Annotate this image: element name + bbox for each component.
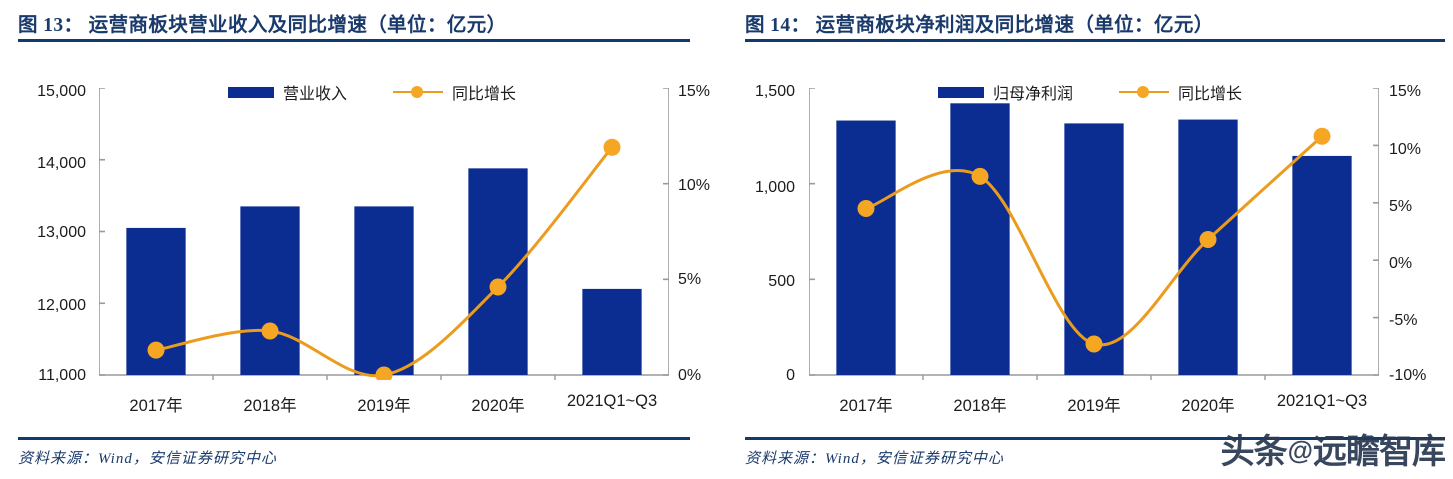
chart-plot-area-13 xyxy=(99,88,669,380)
watermark-logo: 头条@远瞻智库 xyxy=(1221,424,1445,473)
right-axis-tick: 5% xyxy=(678,272,701,288)
right-axis-tick: 5% xyxy=(1389,199,1412,215)
title-divider xyxy=(18,39,690,42)
left-axis-tick: 1,000 xyxy=(727,180,795,196)
figure-panel-14: 图 14： 运营商板块净利润及同比增速（单位：亿元） 归母净利润 同比增长 1,… xyxy=(727,0,1453,479)
figure-title-13: 图 13： 运营商板块营业收入及同比增速（单位：亿元） xyxy=(18,8,507,37)
x-axis-label: 2018年 xyxy=(213,392,327,416)
watermark-brand: 头条 xyxy=(1221,433,1287,471)
footer-divider xyxy=(18,437,690,440)
right-axis-tick: 10% xyxy=(678,178,710,194)
x-axis-label: 2017年 xyxy=(809,392,923,416)
title-divider xyxy=(745,39,1445,42)
left-axis-tick: 14,000 xyxy=(8,156,86,172)
x-axis-label: 2020年 xyxy=(1151,392,1265,416)
left-axis-tick: 500 xyxy=(727,274,795,290)
chart-svg-14 xyxy=(809,88,1379,380)
x-axis-labels-14: 2017年 2018年 2019年 2020年 2021Q1~Q3 xyxy=(809,392,1379,416)
figure-source-13: 资料来源：Wind，安信证券研究中心 xyxy=(18,447,277,468)
x-axis-label: 2017年 xyxy=(99,392,213,416)
right-axis-tick: 10% xyxy=(1389,142,1421,158)
right-axis-tick: -10% xyxy=(1389,368,1426,384)
left-axis-tick: 11,000 xyxy=(8,368,86,384)
watermark-account: 远瞻智库 xyxy=(1313,433,1445,471)
x-axis-label: 2020年 xyxy=(441,392,555,416)
x-axis-label: 2021Q1~Q3 xyxy=(1265,392,1379,416)
figure-title-14: 图 14： 运营商板块净利润及同比增速（单位：亿元） xyxy=(745,8,1214,37)
left-axis-tick: 0 xyxy=(727,368,795,384)
chart-plot-area-14 xyxy=(809,88,1379,380)
figure-page: 图 13： 运营商板块营业收入及同比增速（单位：亿元） 营业收入 同比增长 15… xyxy=(0,0,1453,479)
left-axis-tick: 15,000 xyxy=(8,84,86,100)
figure-source-14: 资料来源：Wind，安信证券研究中心 xyxy=(745,447,1004,468)
watermark-at-icon: @ xyxy=(1287,435,1313,466)
left-axis-tick: 12,000 xyxy=(8,298,86,314)
right-axis-tick: -5% xyxy=(1389,313,1417,329)
right-axis-tick: 15% xyxy=(1389,84,1421,100)
x-axis-label: 2021Q1~Q3 xyxy=(555,392,669,416)
right-axis-tick: 15% xyxy=(678,84,710,100)
left-axis-tick: 13,000 xyxy=(8,225,86,241)
left-axis-tick: 1,500 xyxy=(727,84,795,100)
x-axis-label: 2019年 xyxy=(327,392,441,416)
right-axis-tick: 0% xyxy=(1389,256,1412,272)
figure-panel-13: 图 13： 运营商板块营业收入及同比增速（单位：亿元） 营业收入 同比增长 15… xyxy=(0,0,726,479)
x-axis-label: 2019年 xyxy=(1037,392,1151,416)
right-axis-tick: 0% xyxy=(678,368,701,384)
x-axis-labels-13: 2017年 2018年 2019年 2020年 2021Q1~Q3 xyxy=(99,392,669,416)
chart-svg-13 xyxy=(99,88,669,380)
x-axis-label: 2018年 xyxy=(923,392,1037,416)
